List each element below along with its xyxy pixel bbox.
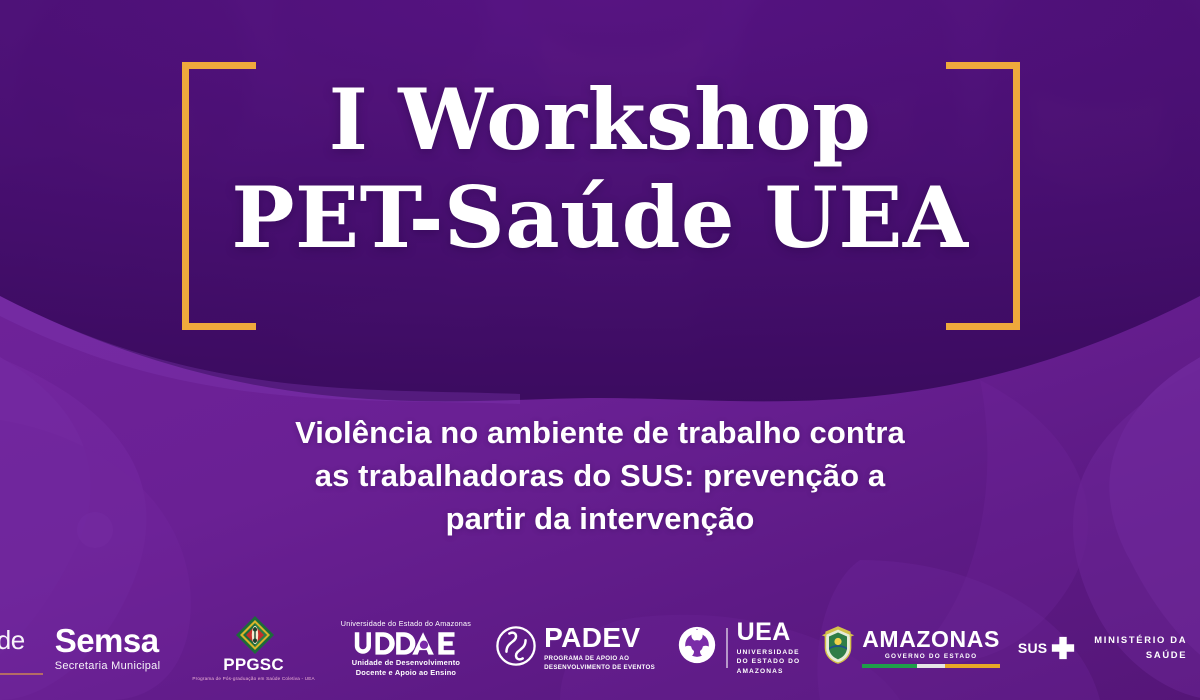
sus-name: SUS	[1018, 640, 1047, 656]
triangular-ring-icon	[677, 625, 717, 670]
subtitle-line-3: partir da intervenção	[180, 498, 1020, 541]
logo-padev: PADEV PROGRAMA DE APOIO AO DESENVOLVIMEN…	[483, 624, 667, 672]
swirl-circle-icon	[495, 625, 537, 672]
title-line-2: PET-Saúde UEA	[0, 176, 1200, 260]
event-subtitle: Violência no ambiente de trabalho contra…	[180, 412, 1020, 540]
padev-sub-line-2: DESENVOLVIMENTO DE EVENTOS	[544, 664, 655, 673]
uea-name: UEA	[737, 620, 801, 645]
pet-name-light: -Saúde	[0, 625, 25, 655]
pet-underline-decoration	[0, 665, 43, 675]
uddae-top-text: Universidade do Estado do Amazonas	[341, 619, 471, 628]
logo-amazonas-governo: AMAZONAS GOVERNO DO ESTADO	[810, 626, 1010, 671]
uea-sub-line-1: UNIVERSIDADE	[737, 648, 801, 658]
uea-sub-line-2: DO ESTADO DO	[737, 657, 801, 667]
sponsor-logo-bar: PET-Saúde EQUIDADE Semsa Secretaria Muni…	[0, 610, 1200, 686]
uea-tagline: UNIVERSIDADE DO ESTADO DO AMAZONAS	[737, 648, 801, 677]
health-cross-icon	[1050, 635, 1076, 661]
logo-ppgsc: PPGSC Programa de Pós-graduação em Saúde…	[178, 615, 328, 682]
uea-divider	[726, 628, 728, 668]
padev-name: PADEV	[544, 624, 655, 652]
padev-sub-line-1: PROGRAMA DE APOIO AO	[544, 655, 655, 664]
logo-uddae: Universidade do Estado do Amazonas Unida…	[329, 619, 483, 678]
semsa-name: Semsa	[55, 624, 159, 657]
amazonas-name: AMAZONAS	[862, 628, 1000, 651]
padev-tagline: PROGRAMA DE APOIO AO DESENVOLVIMENTO DE …	[544, 655, 655, 672]
semsa-tagline: Secretaria Municipal	[55, 660, 161, 672]
ppgsc-tagline: Programa de Pós-graduação em Saúde Colet…	[192, 676, 314, 682]
event-poster: I Workshop PET-Saúde UEA Violência no am…	[0, 0, 1200, 700]
logo-semsa: Semsa Secretaria Municipal	[41, 624, 179, 672]
subtitle-line-1: Violência no ambiente de trabalho contra	[180, 412, 1020, 455]
ministerio-line-2: SAÚDE	[1094, 648, 1187, 663]
amazonas-color-bar	[862, 664, 1000, 668]
logo-sus: SUS	[1010, 635, 1084, 661]
page-title: I Workshop PET-Saúde UEA	[0, 78, 1200, 260]
title-line-1: I Workshop	[0, 78, 1200, 162]
amazonas-tagline: GOVERNO DO ESTADO	[862, 654, 1000, 660]
diamond-emblem-icon	[235, 615, 273, 653]
logo-uea: UEA UNIVERSIDADE DO ESTADO DO AMAZONAS	[667, 620, 810, 677]
uddae-wordmark-icon	[353, 630, 459, 656]
ppgsc-name: PPGSC	[223, 655, 284, 675]
logo-pet-saude-equidade: PET-Saúde EQUIDADE	[0, 627, 41, 669]
uddae-bottom-text: Unidade de Desenvolvimento Docente e Apo…	[352, 658, 460, 678]
uea-sub-line-3: AMAZONAS	[737, 667, 801, 677]
logo-ministerio-da-saude: MINISTÉRIO DA SAÚDE	[1084, 633, 1197, 662]
uddae-bottom-line-2: Docente e Apoio ao Ensino	[352, 668, 460, 678]
coat-of-arms-icon	[820, 626, 856, 671]
ministerio-line-1: MINISTÉRIO DA	[1094, 633, 1187, 648]
subtitle-line-2: as trabalhadoras do SUS: prevenção a	[180, 455, 1020, 498]
uddae-bottom-line-1: Unidade de Desenvolvimento	[352, 658, 460, 668]
